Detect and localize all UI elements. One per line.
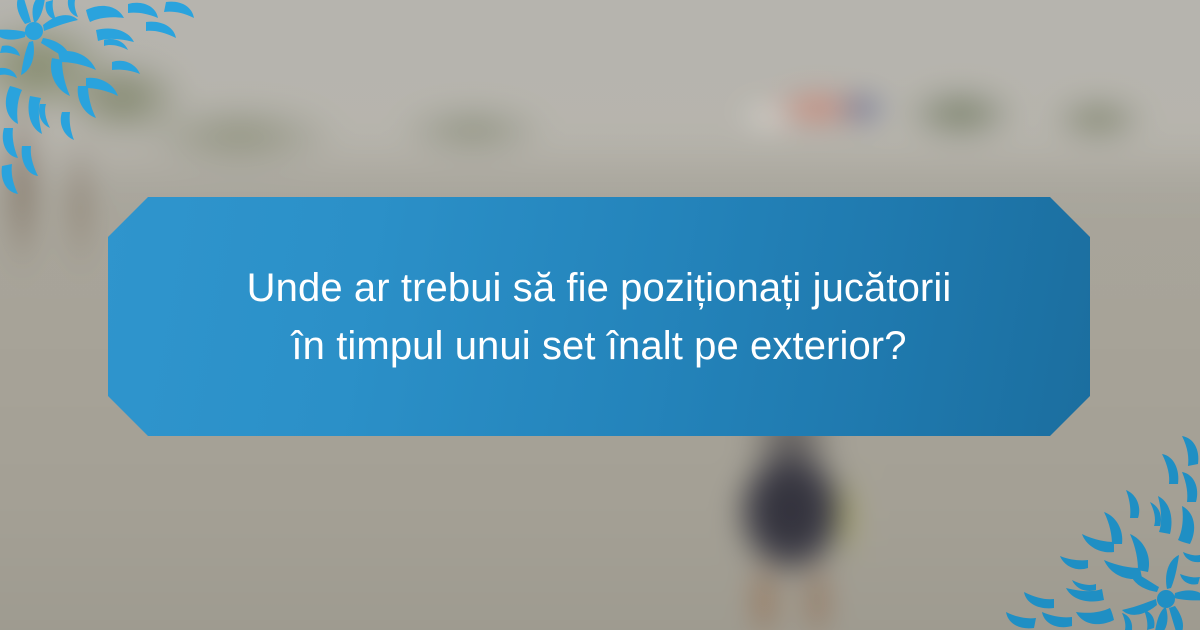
social-card: Unde ar trebui să fie poziționați jucăto… xyxy=(0,0,1200,630)
headline-banner: Unde ar trebui să fie poziționați jucăto… xyxy=(108,197,1090,436)
page-title: Unde ar trebui să fie poziționați jucăto… xyxy=(229,259,969,375)
